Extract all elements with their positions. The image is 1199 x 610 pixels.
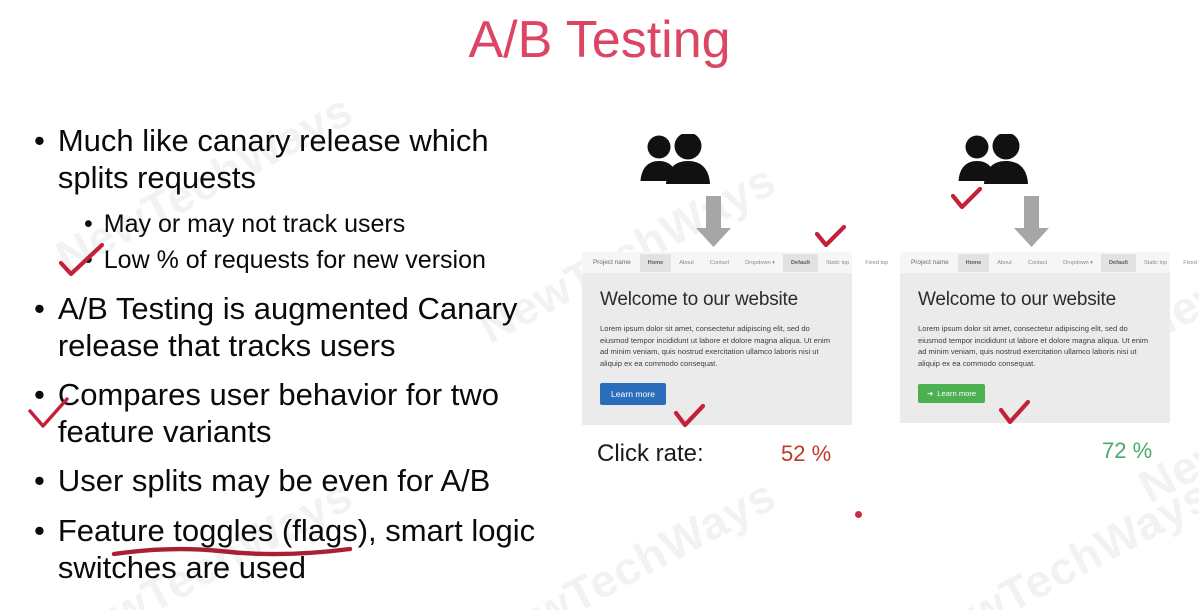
hero-heading: Welcome to our website [918, 289, 1152, 311]
bullet-marker: • [34, 512, 45, 549]
list-item-text: User splits may be even for A/B [58, 462, 561, 499]
two-users-icon [639, 134, 713, 189]
list-item-text: Low % of requests for new version [104, 242, 561, 278]
arrow-right-icon: ➔ [927, 389, 933, 398]
list-item: • User splits may be even for A/B [26, 462, 561, 499]
variant-a-hero: Welcome to our website Lorem ipsum dolor… [582, 273, 852, 425]
bullet-list: • Much like canary release which splits … [26, 122, 561, 596]
navbar-item-dropdown[interactable]: Dropdown ▾ [1055, 254, 1101, 272]
list-item: • A/B Testing is augmented Canary releas… [26, 290, 561, 364]
navbar-item-about[interactable]: About [989, 254, 1020, 272]
learn-more-button-a[interactable]: Learn more [600, 383, 666, 405]
page-title: A/B Testing [0, 10, 1199, 70]
bullet-marker: • [34, 376, 45, 413]
two-users-icon [957, 134, 1031, 189]
bullet-marker: • [34, 462, 45, 499]
navbar-item-fixed-top[interactable]: Fixed top [857, 254, 896, 272]
hero-heading: Welcome to our website [600, 289, 834, 311]
variant-b-browser: Project name Home About Contact Dropdown… [900, 252, 1170, 423]
bullet-marker: • [84, 206, 93, 242]
list-item-text: Feature toggles (flags), smart logic swi… [58, 512, 561, 586]
bullet-marker: • [34, 290, 45, 327]
navbar-item-static-top[interactable]: Static top [1136, 254, 1175, 272]
down-arrow-icon [695, 196, 732, 248]
slide-canvas: NewTechWays NewTechWays NewTechWays NewT… [0, 0, 1199, 610]
navbar-item-static-top[interactable]: Static top [818, 254, 857, 272]
list-item: • Feature toggles (flags), smart logic s… [26, 512, 561, 586]
bullet-marker: • [34, 122, 45, 159]
navbar-item-fixed-top[interactable]: Fixed top [1175, 254, 1199, 272]
list-item: • Low % of requests for new version [26, 242, 561, 278]
learn-more-label-a: Learn more [611, 389, 655, 399]
variant-a-panel: Project name Home About Contact Dropdown… [582, 130, 852, 450]
learn-more-label-b: Learn more [937, 389, 976, 398]
hero-paragraph: Lorem ipsum dolor sit amet, consectetur … [918, 323, 1152, 369]
navbar-brand[interactable]: Project name [584, 259, 640, 266]
list-item-text: Compares user behavior for two feature v… [58, 376, 561, 450]
variant-b-hero: Welcome to our website Lorem ipsum dolor… [900, 273, 1170, 423]
variant-b-panel: Project name Home About Contact Dropdown… [900, 130, 1170, 450]
navbar-item-contact[interactable]: Contact [1020, 254, 1055, 272]
navbar-item-dropdown[interactable]: Dropdown ▾ [737, 254, 783, 272]
pen-dot [855, 511, 862, 518]
navbar-item-about[interactable]: About [671, 254, 702, 272]
hero-paragraph: Lorem ipsum dolor sit amet, consectetur … [600, 323, 834, 369]
navbar-item-default[interactable]: Default [783, 254, 818, 272]
variant-b-navbar: Project name Home About Contact Dropdown… [900, 252, 1170, 273]
down-arrow-icon [1013, 196, 1050, 248]
list-item-text: May or may not track users [104, 206, 561, 242]
variant-a-navbar: Project name Home About Contact Dropdown… [582, 252, 852, 273]
list-item: • Compares user behavior for two feature… [26, 376, 561, 450]
navbar-item-default[interactable]: Default [1101, 254, 1136, 272]
navbar-item-home[interactable]: Home [640, 254, 672, 272]
learn-more-button-b[interactable]: ➔ Learn more [918, 384, 985, 403]
list-item: • Much like canary release which splits … [26, 122, 561, 196]
click-rate-value-b: 72 % [1102, 438, 1152, 464]
click-rate-value-a: 52 % [781, 441, 831, 467]
list-item-text: Much like canary release which splits re… [58, 122, 561, 196]
navbar-item-home[interactable]: Home [958, 254, 990, 272]
bullet-marker: • [84, 242, 93, 278]
variant-a-browser: Project name Home About Contact Dropdown… [582, 252, 852, 425]
navbar-brand[interactable]: Project name [902, 259, 958, 266]
list-item-text: A/B Testing is augmented Canary release … [58, 290, 561, 364]
navbar-item-contact[interactable]: Contact [702, 254, 737, 272]
list-item: • May or may not track users [26, 206, 561, 242]
click-rate-label: Click rate: [597, 440, 704, 468]
watermark: NewTechWays [905, 467, 1199, 610]
